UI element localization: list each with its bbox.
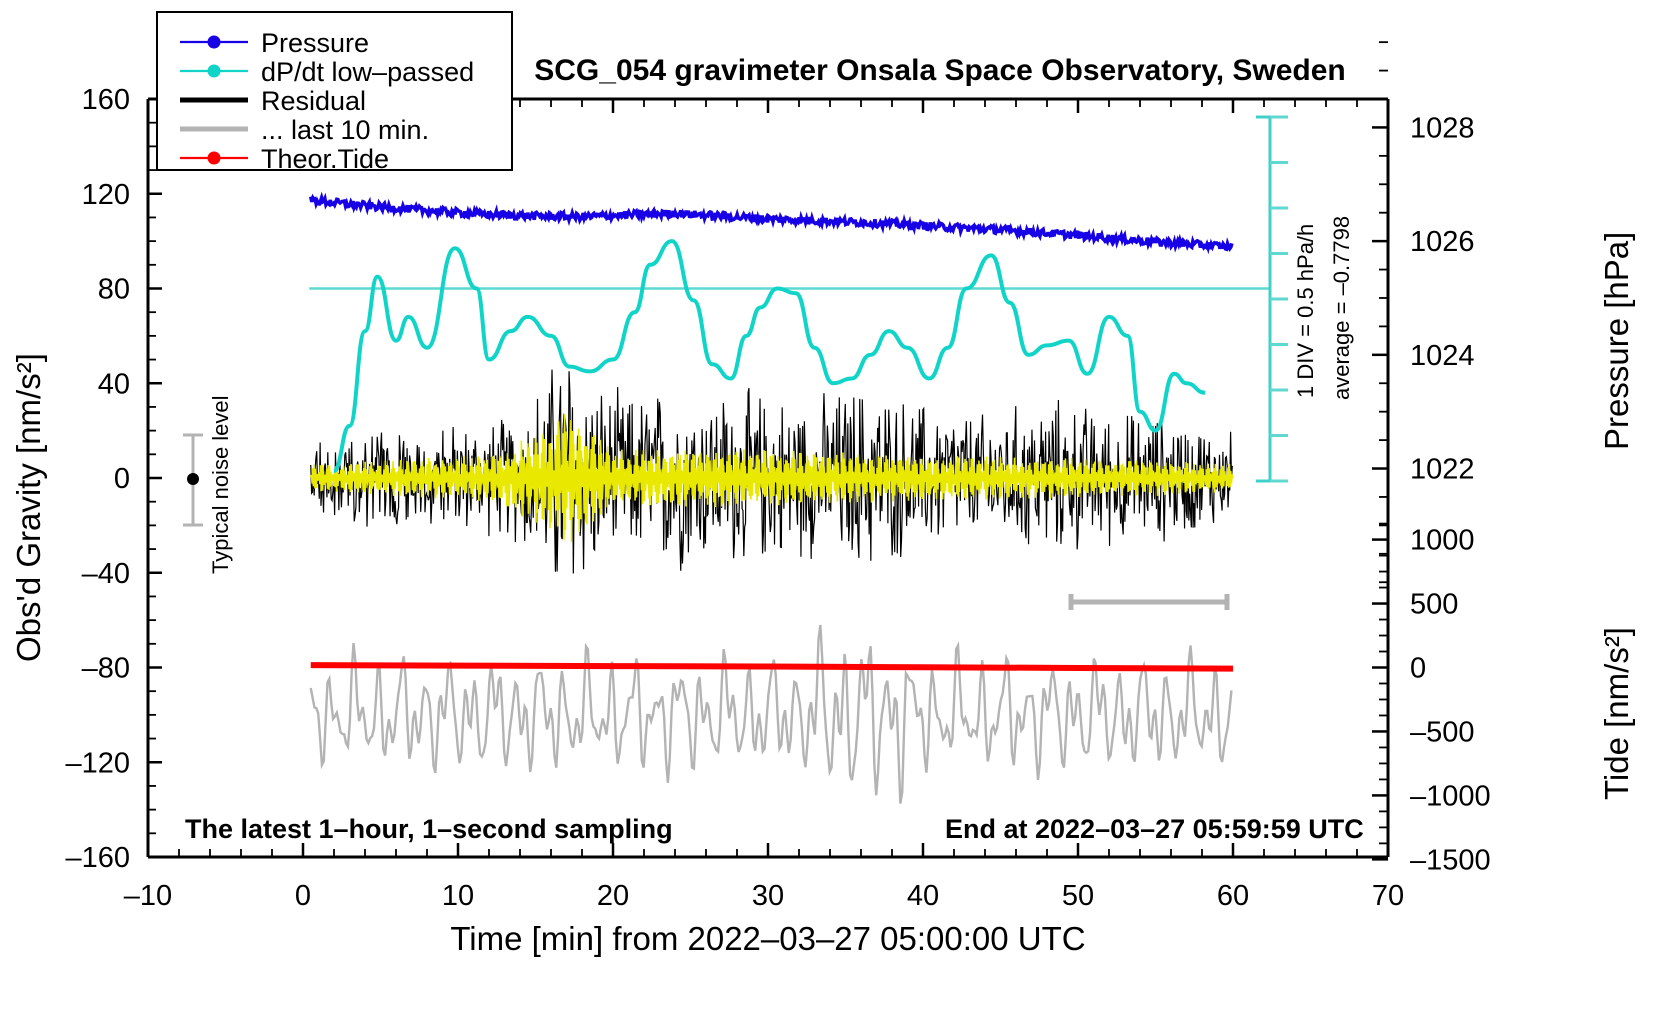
tide-tick-label: 1000 (1410, 525, 1475, 557)
pressure-tick-label: 1022 (1410, 454, 1475, 486)
noise-level-label: Typical noise level (208, 395, 233, 574)
y-tick-label: 160 (82, 84, 130, 116)
pressure-tick-label: 1026 (1410, 226, 1475, 258)
x-tick-label: 20 (597, 880, 629, 912)
chart-page: –1001020304050607016012080400–40–80–120–… (0, 0, 1660, 1020)
cyan-scale-note: 1 DIV = 0.5 hPa/h (1293, 224, 1318, 398)
pressure-tick-label: 1028 (1410, 112, 1475, 144)
tide-tick-label: 500 (1410, 589, 1458, 621)
legend-label: ... last 10 min. (261, 115, 429, 145)
y-tick-label: 40 (98, 368, 130, 400)
sampling-note: The latest 1–hour, 1–second sampling (185, 814, 673, 844)
tide-tick-label: –500 (1410, 716, 1475, 748)
pressure-tick-label: 1024 (1410, 340, 1475, 372)
y-axis-label: Obs'd Gravity [nm/s²] (10, 353, 47, 662)
cyan-average-note: average = –0.7798 (1329, 216, 1354, 400)
noise-level-dot (187, 473, 199, 485)
tide-tick-label: –1000 (1410, 780, 1491, 812)
legend[interactable]: PressuredP/dt low–passedResidual... last… (157, 12, 512, 174)
legend-marker-dot (208, 65, 221, 78)
page-title: SCG_054 gravimeter Onsala Space Observat… (534, 54, 1346, 87)
y-tick-label: –160 (65, 842, 130, 874)
y-tick-label: 0 (114, 463, 130, 495)
x-tick-label: 0 (295, 880, 311, 912)
x-axis-label: Time [min] from 2022–03–27 05:00:00 UTC (450, 920, 1085, 957)
y-tick-label: 80 (98, 274, 130, 306)
legend-marker-dot (208, 152, 221, 165)
x-tick-label: 70 (1372, 880, 1404, 912)
legend-label: Pressure (261, 28, 369, 58)
tide-tick-label: –1500 (1410, 844, 1491, 876)
y-tick-label: –40 (82, 558, 130, 590)
x-tick-label: 50 (1062, 880, 1094, 912)
theoretical-tide-trace (311, 665, 1233, 669)
y-tick-label: 120 (82, 179, 130, 211)
legend-label: dP/dt low–passed (261, 57, 474, 87)
legend-marker-dot (208, 36, 221, 49)
y-tick-label: –80 (82, 653, 130, 685)
y-tick-label: –120 (65, 747, 130, 779)
x-tick-label: 40 (907, 880, 939, 912)
y-axis-right-tide-label: Tide [nm/s²] (1598, 627, 1635, 800)
x-tick-label: 10 (442, 880, 474, 912)
legend-label: Residual (261, 86, 366, 116)
legend-label: Theor.Tide (261, 144, 389, 174)
x-tick-label: –10 (124, 880, 172, 912)
tide-tick-label: 0 (1410, 653, 1426, 685)
gravimeter-chart: –1001020304050607016012080400–40–80–120–… (0, 0, 1660, 1020)
x-tick-label: 60 (1217, 880, 1249, 912)
end-time-note: End at 2022–03–27 05:59:59 UTC (945, 814, 1364, 844)
y-axis-right-pressure-label: Pressure [hPa] (1598, 232, 1635, 450)
x-tick-label: 30 (752, 880, 784, 912)
